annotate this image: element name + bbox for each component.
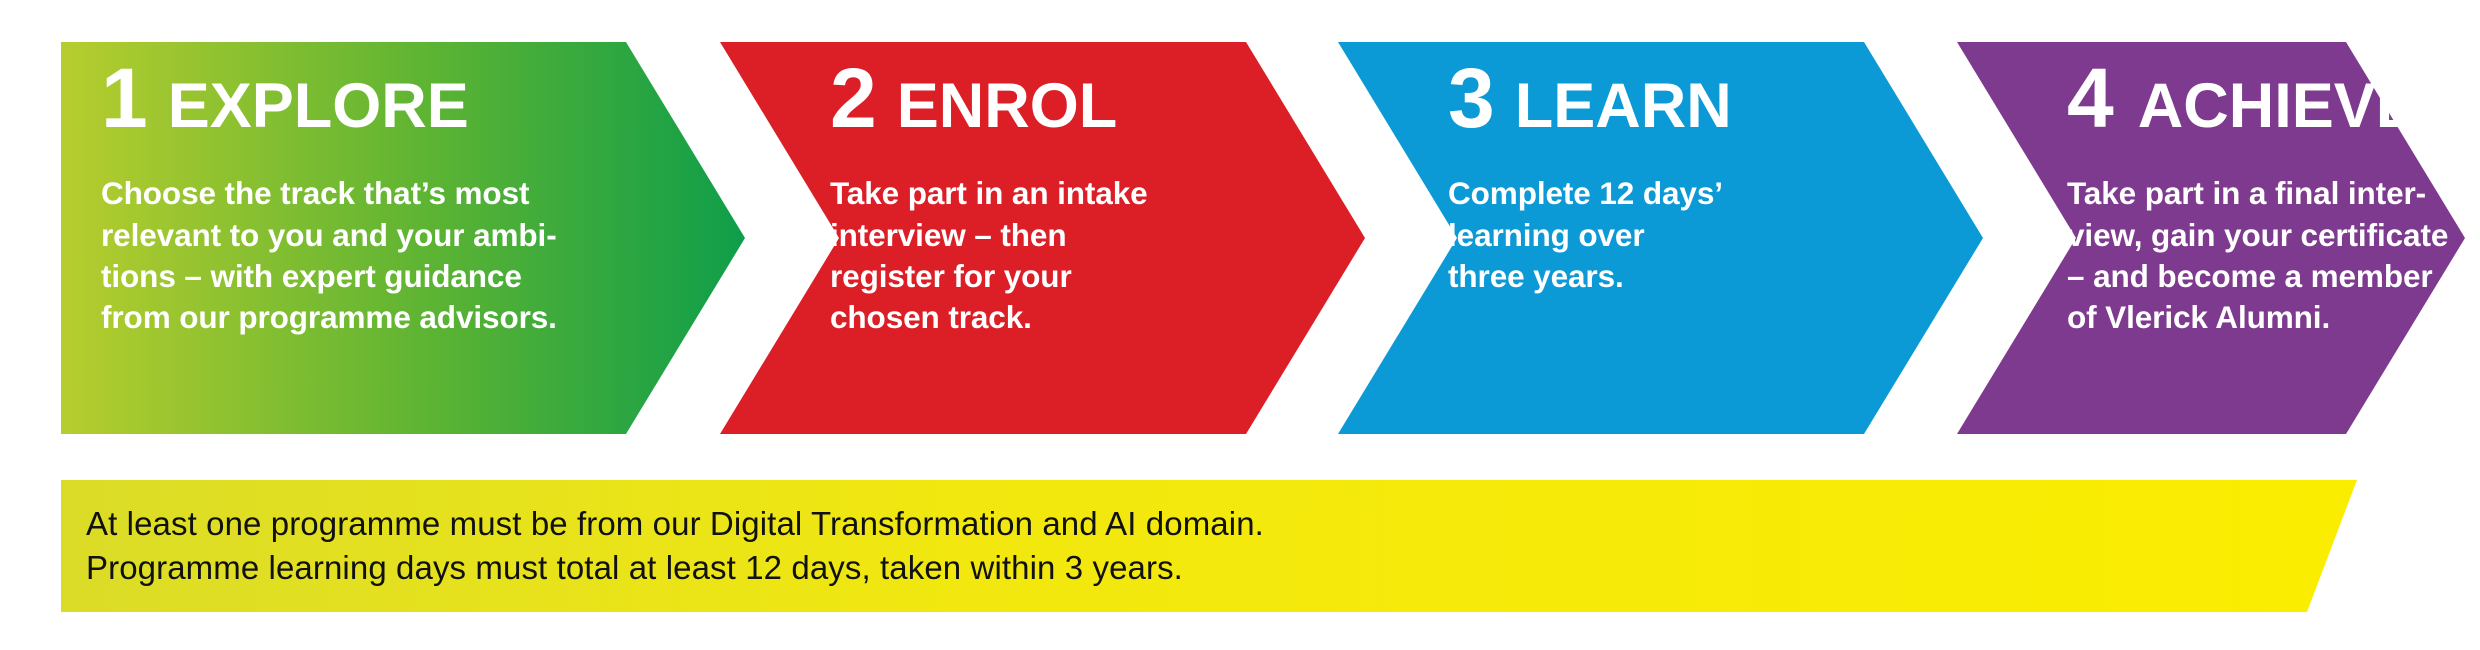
banner-text: At least one programme must be from our … (86, 502, 1264, 590)
step-4-heading: 4 ACHIEVE (2067, 60, 2465, 137)
step-4-number: 4 (2067, 60, 2112, 137)
step-3-heading: 3 LEARN (1448, 60, 1983, 137)
process-step-3: 3 LEARN Complete 12 days’ learning over … (1338, 42, 1983, 434)
process-step-4: 4 ACHIEVE Take part in a final inter- vi… (1957, 42, 2465, 434)
step-3-content: 3 LEARN Complete 12 days’ learning over … (1338, 42, 1983, 434)
step-4-title: ACHIEVE (2138, 78, 2418, 136)
step-3-number: 3 (1448, 60, 1493, 137)
infographic-canvas: 1 EXPLORE Choose the track that’s most r… (0, 0, 2480, 650)
step-1-heading: 1 EXPLORE (101, 60, 745, 137)
step-2-body: Take part in an intake interview – then … (830, 173, 1365, 338)
step-2-title: ENROL (897, 78, 1118, 136)
step-2-heading: 2 ENROL (830, 60, 1365, 137)
step-3-title: LEARN (1515, 78, 1732, 136)
step-4-body: Take part in a final inter- view, gain y… (2067, 173, 2465, 338)
step-2-content: 2 ENROL Take part in an intake interview… (720, 42, 1365, 434)
requirements-banner: At least one programme must be from our … (0, 480, 2480, 612)
process-step-1: 1 EXPLORE Choose the track that’s most r… (61, 42, 745, 434)
step-1-title: EXPLORE (168, 78, 469, 136)
step-1-number: 1 (101, 60, 146, 137)
step-4-content: 4 ACHIEVE Take part in a final inter- vi… (1957, 42, 2465, 434)
step-2-number: 2 (830, 60, 875, 137)
step-1-body: Choose the track that’s most relevant to… (101, 173, 745, 338)
step-3-body: Complete 12 days’ learning over three ye… (1448, 173, 1983, 297)
process-step-2: 2 ENROL Take part in an intake interview… (720, 42, 1365, 434)
step-1-content: 1 EXPLORE Choose the track that’s most r… (61, 42, 745, 434)
process-steps-row: 1 EXPLORE Choose the track that’s most r… (0, 42, 2480, 434)
